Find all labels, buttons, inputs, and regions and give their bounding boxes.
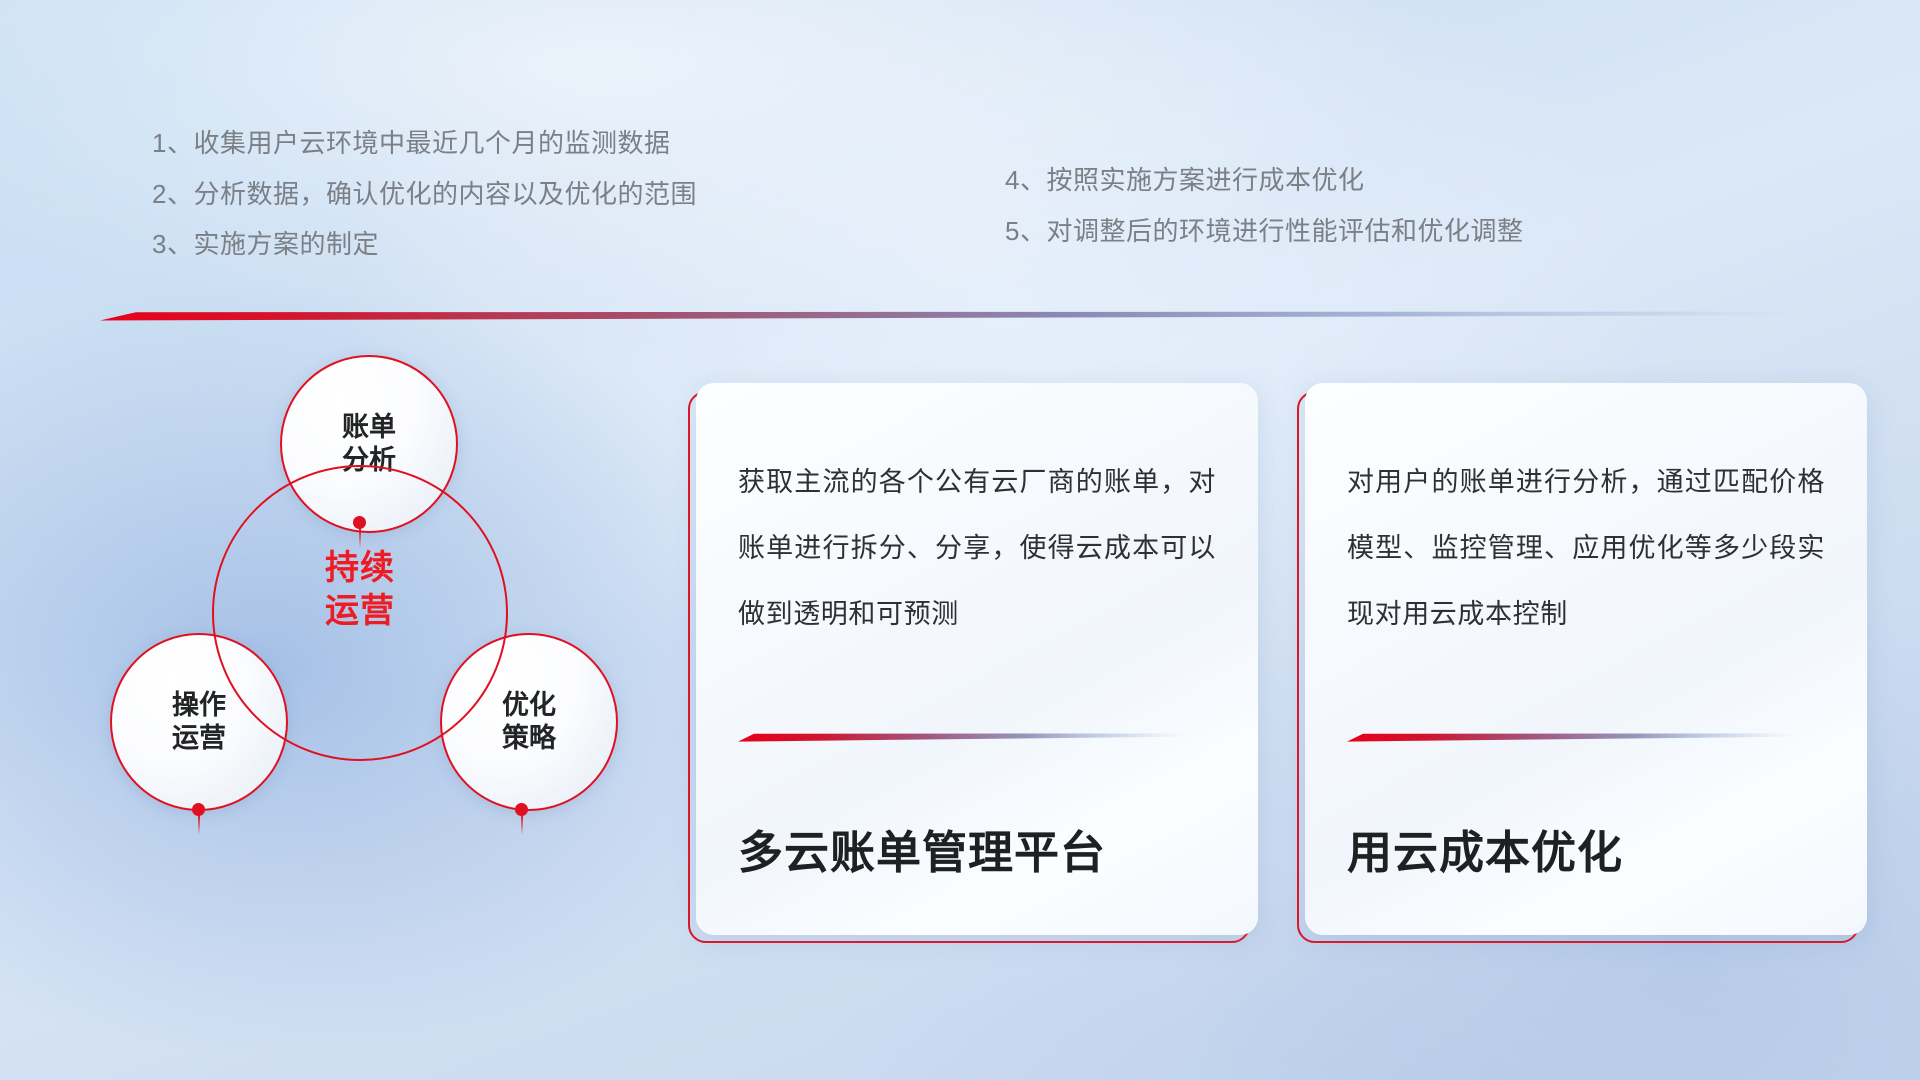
- card-title: 用云成本优化: [1347, 816, 1825, 881]
- node-dot-bottom-left: [192, 803, 205, 816]
- card-accent-rule: [738, 733, 1190, 742]
- center-label-line-2: 运营: [268, 590, 452, 633]
- cycle-diagram: 持续 运营 账单 分析 操作 运营 优化 策略: [95, 355, 655, 955]
- node-dot-top: [353, 516, 366, 529]
- card-title: 多云账单管理平台: [738, 816, 1216, 881]
- card-body: 对用户的账单进行分析，通过匹配价格模型、监控管理、应用优化等多少段实现对用云成本…: [1305, 383, 1867, 935]
- card-accent-rule: [1347, 733, 1799, 742]
- steps-right-column: 4、按照实施方案进行成本优化 5、对调整后的环境进行性能评估和优化调整: [1005, 155, 1523, 256]
- feature-card-cloud-cost-optimization[interactable]: 对用户的账单进行分析，通过匹配价格模型、监控管理、应用优化等多少段实现对用云成本…: [1297, 383, 1859, 935]
- section-divider: [100, 311, 1800, 321]
- feature-card-multicloud-billing[interactable]: 获取主流的各个公有云厂商的账单，对账单进行拆分、分享，使得云成本可以做到透明和可…: [688, 383, 1250, 935]
- card-description: 对用户的账单进行分析，通过匹配价格模型、监控管理、应用优化等多少段实现对用云成本…: [1347, 449, 1825, 681]
- node-label-line-2: 运营: [172, 722, 226, 755]
- steps-left-column: 1、收集用户云环境中最近几个月的监测数据 2、分析数据，确认优化的内容以及优化的…: [152, 118, 697, 270]
- center-label-line-1: 持续: [268, 547, 452, 590]
- node-label-line-1: 操作: [172, 689, 226, 722]
- node-connector-bottom-right: [521, 815, 523, 835]
- step-item-1: 1、收集用户云环境中最近几个月的监测数据: [152, 118, 697, 169]
- step-item-2: 2、分析数据，确认优化的内容以及优化的范围: [152, 169, 697, 220]
- card-body: 获取主流的各个公有云厂商的账单，对账单进行拆分、分享，使得云成本可以做到透明和可…: [696, 383, 1258, 935]
- slide-canvas: 1、收集用户云环境中最近几个月的监测数据 2、分析数据，确认优化的内容以及优化的…: [0, 0, 1920, 1080]
- step-item-4: 4、按照实施方案进行成本优化: [1005, 155, 1523, 206]
- node-connector-bottom-left: [198, 815, 200, 835]
- node-dot-bottom-right: [515, 803, 528, 816]
- diagram-center-label: 持续 运营: [268, 547, 452, 632]
- step-item-5: 5、对调整后的环境进行性能评估和优化调整: [1005, 206, 1523, 257]
- node-label-line-1: 账单: [342, 411, 396, 444]
- node-connector-top: [359, 528, 361, 548]
- node-label-line-1: 优化: [502, 689, 556, 722]
- node-label-line-2: 策略: [502, 722, 556, 755]
- step-item-3: 3、实施方案的制定: [152, 219, 697, 270]
- card-description: 获取主流的各个公有云厂商的账单，对账单进行拆分、分享，使得云成本可以做到透明和可…: [738, 449, 1216, 681]
